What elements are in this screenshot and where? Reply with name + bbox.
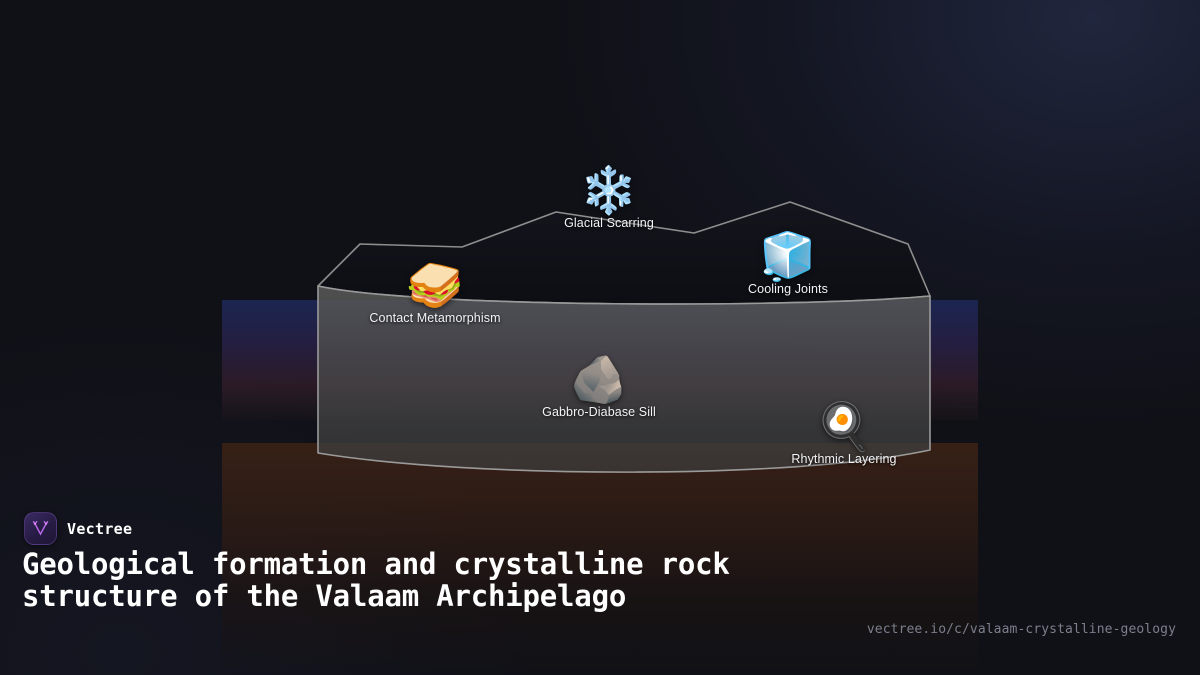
node-label: Rhythmic Layering xyxy=(791,452,896,466)
node-gabbro-diabase-sill[interactable]: 🪨 Gabbro-Diabase Sill xyxy=(542,351,656,419)
sandwich-icon: 🥪 xyxy=(406,257,463,313)
rock-icon: 🪨 xyxy=(570,351,627,407)
page-title: Geological formation and crystalline roc… xyxy=(22,548,852,612)
vectree-logo-icon xyxy=(24,512,57,545)
background-glow-bottom-left xyxy=(0,315,540,675)
source-url: vectree.io/c/valaam-crystalline-geology xyxy=(867,622,1176,637)
brand-name: Vectree xyxy=(67,520,132,538)
ice-cube-icon: 🧊 xyxy=(759,228,816,284)
node-label: Contact Metamorphism xyxy=(369,311,500,325)
node-label: Glacial Scarring xyxy=(564,216,654,230)
node-glacial-scarring[interactable]: ❄️ Glacial Scarring xyxy=(564,162,654,230)
grill-icon: 🍳 xyxy=(815,398,872,454)
node-contact-metamorphism[interactable]: 🥪 Contact Metamorphism xyxy=(369,257,500,325)
brand-lockup[interactable]: Vectree xyxy=(24,512,132,545)
iceberg-infographic-canvas: ❄️ Glacial Scarring 🥪 Contact Metamorphi… xyxy=(0,0,1200,675)
background-glow-top-right xyxy=(560,0,1200,420)
node-cooling-joints[interactable]: 🧊 Cooling Joints xyxy=(748,228,828,296)
node-label: Cooling Joints xyxy=(748,282,828,296)
snowflake-icon: ❄️ xyxy=(580,162,637,218)
node-label: Gabbro-Diabase Sill xyxy=(542,405,656,419)
node-rhythmic-layering[interactable]: 🍳 Rhythmic Layering xyxy=(791,398,896,466)
